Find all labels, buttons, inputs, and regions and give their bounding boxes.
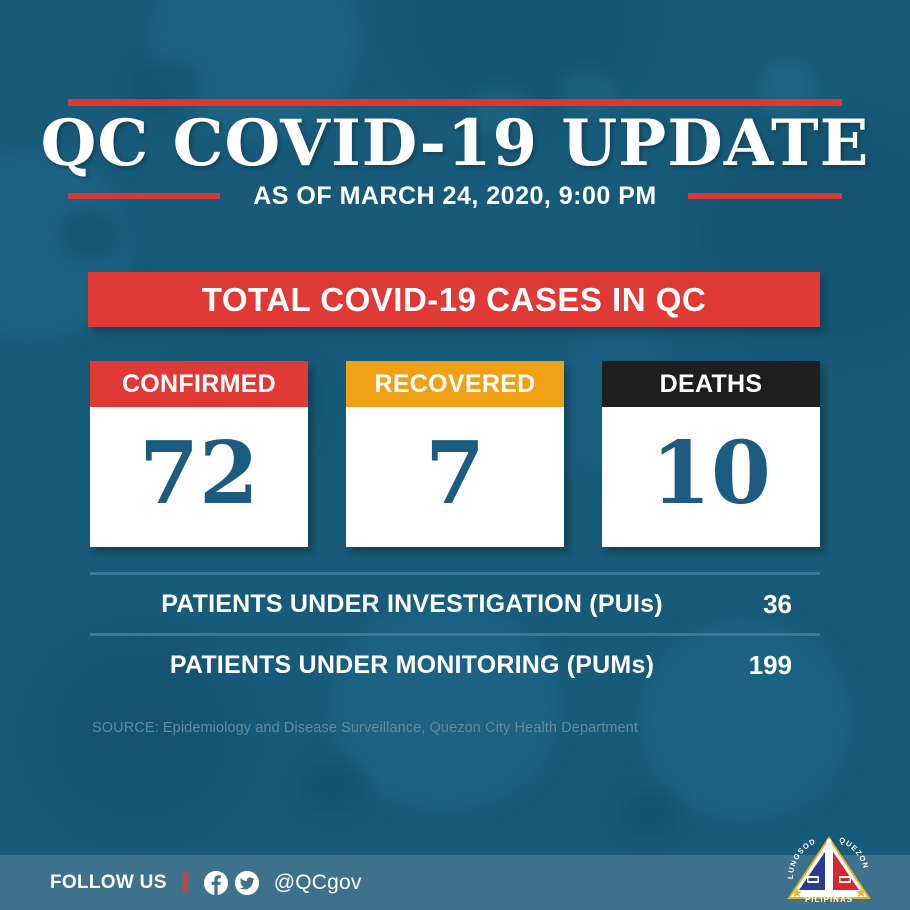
twitter-icon[interactable] xyxy=(235,871,259,895)
footer-divider xyxy=(183,872,188,894)
stat-card-confirmed-header: CONFIRMED xyxy=(90,361,308,407)
stat-card-deaths-header: DEATHS xyxy=(602,361,820,407)
table-row-pum: PATIENTS UNDER MONITORING (PUMs) 199 xyxy=(90,636,820,694)
stat-card-confirmed: CONFIRMED 72 xyxy=(90,361,308,547)
stat-card-deaths: DEATHS 10 xyxy=(602,361,820,547)
page-title: QC COVID-19 UPDATE xyxy=(0,110,910,177)
total-cases-banner-label: TOTAL COVID-19 CASES IN QC xyxy=(202,281,706,319)
table-divider-top xyxy=(90,572,820,575)
facebook-icon[interactable] xyxy=(204,871,228,895)
header-top-rule xyxy=(68,99,842,106)
stat-card-confirmed-value: 72 xyxy=(90,407,308,547)
under-observation-table: PATIENTS UNDER INVESTIGATION (PUIs) 36 P… xyxy=(90,572,820,694)
stat-card-group: CONFIRMED 72 RECOVERED 7 DEATHS 10 xyxy=(90,361,820,547)
table-row-pui-value: 36 xyxy=(706,589,792,620)
table-row-pui-label: PATIENTS UNDER INVESTIGATION (PUIs) xyxy=(118,590,706,619)
source-note: SOURCE: Epidemiology and Disease Surveil… xyxy=(92,720,638,736)
covid-update-poster: QC COVID-19 UPDATE AS OF MARCH 24, 2020,… xyxy=(0,0,910,910)
stat-card-recovered: RECOVERED 7 xyxy=(346,361,564,547)
as-of-timestamp: AS OF MARCH 24, 2020, 9:00 PM xyxy=(0,182,910,211)
stat-card-confirmed-label: CONFIRMED xyxy=(122,370,276,399)
footer-bar: FOLLOW US @QCgov xyxy=(0,855,910,910)
table-row-pui: PATIENTS UNDER INVESTIGATION (PUIs) 36 xyxy=(90,575,820,633)
social-handle[interactable]: @QCgov xyxy=(274,871,362,895)
table-divider-middle xyxy=(90,633,820,636)
table-row-pum-label: PATIENTS UNDER MONITORING (PUMs) xyxy=(118,651,706,680)
stat-card-recovered-header: RECOVERED xyxy=(346,361,564,407)
stat-card-deaths-value: 10 xyxy=(602,407,820,547)
seal-bottom-text: PILIPINAS xyxy=(805,895,853,904)
stat-card-recovered-label: RECOVERED xyxy=(374,370,535,399)
quezon-city-seal: LUNGSOD QUEZON PILIPINAS xyxy=(783,832,875,904)
stat-card-recovered-value: 7 xyxy=(346,407,564,547)
total-cases-banner: TOTAL COVID-19 CASES IN QC xyxy=(88,272,820,327)
stat-card-deaths-label: DEATHS xyxy=(660,370,763,399)
table-row-pum-value: 199 xyxy=(706,650,792,681)
follow-us-label: FOLLOW US xyxy=(50,872,167,894)
